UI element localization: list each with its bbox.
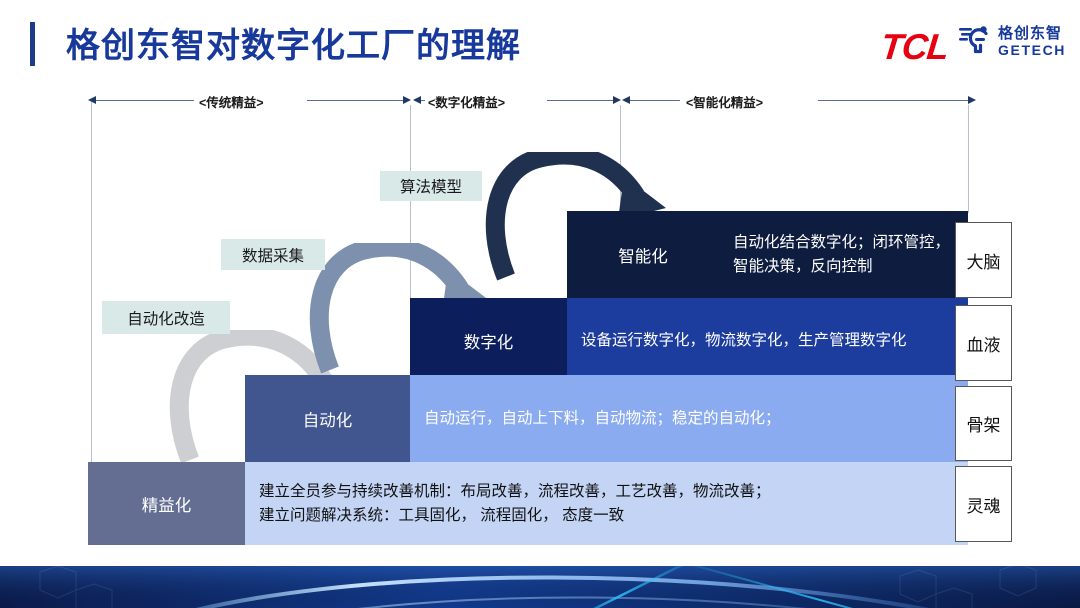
- page-title: 格创东智对数字化工厂的理解: [66, 18, 521, 67]
- level-tag-automation[interactable]: 自动化: [245, 375, 410, 462]
- phase-label-2: <数字化精益>: [428, 92, 505, 111]
- getech-wordmark: 格创东智 GETECH: [998, 26, 1066, 57]
- level-tag-lean[interactable]: 精益化: [88, 462, 245, 545]
- phase-axis-arrow-left-1: [88, 96, 96, 104]
- phase-axis-arrow-left-2: [413, 96, 421, 104]
- level-desc-automation: 自动运行，自动上下料，自动物流；稳定的自动化；: [410, 375, 968, 462]
- footer-decoration-band: [0, 566, 1080, 608]
- getech-mark-icon: [959, 24, 993, 59]
- title-accent-bar: [30, 22, 35, 66]
- getech-name-cn: 格创东智: [998, 26, 1066, 41]
- level-desc-digital: 设备运行数字化，物流数字化，生产管理数字化: [567, 298, 968, 383]
- level-desc-lean-line1: 建立全员参与持续改善机制：布局改善，流程改善，工艺改善，物流改善；: [259, 480, 771, 503]
- footer-arc-graphic: [0, 566, 1080, 608]
- phase-axis-arrow-right-1: [403, 96, 411, 104]
- callout-chip-automation-retrofit[interactable]: 自动化改造: [102, 301, 230, 334]
- organ-box-soul[interactable]: 灵魂: [955, 466, 1012, 542]
- phase-axis-line-1b: [307, 100, 403, 101]
- phase-axis-arrow-right-3: [968, 96, 976, 104]
- level-desc-lean: 建立全员参与持续改善机制：布局改善，流程改善，工艺改善，物流改善； 建立问题解决…: [245, 462, 968, 545]
- phase-axis-arrow-right-2: [613, 96, 621, 104]
- phase-guide-line-1: [91, 102, 92, 465]
- phase-axis-line-1a: [96, 100, 194, 101]
- level-desc-intelligent: 自动化结合数字化；闭环管控，智能决策，反向控制: [719, 211, 968, 298]
- getech-logo: 格创东智 GETECH: [959, 24, 1066, 59]
- organ-box-blood[interactable]: 血液: [955, 305, 1012, 381]
- phase-axis-line-3a: [630, 100, 680, 101]
- phase-axis-line-3b: [818, 100, 968, 101]
- phase-axis-arrow-left-3: [622, 96, 630, 104]
- phase-label-1: <传统精益>: [199, 92, 264, 111]
- organ-box-brain[interactable]: 大脑: [955, 222, 1012, 298]
- callout-chip-data-collection[interactable]: 数据采集: [221, 239, 325, 270]
- level-desc-lean-line2: 建立问题解决系统：工具固化， 流程固化， 态度一致: [259, 504, 624, 527]
- level-tag-digital[interactable]: 数字化: [410, 298, 567, 383]
- level-tag-intelligent[interactable]: 智能化: [567, 211, 719, 298]
- tcl-logo: TCL: [879, 26, 950, 68]
- phase-guide-line-4: [968, 105, 969, 213]
- getech-name-en: GETECH: [998, 43, 1066, 57]
- phase-axis-line-2b: [547, 100, 613, 101]
- callout-chip-algorithm[interactable]: 算法模型: [380, 171, 482, 201]
- phase-label-3: <智能化精益>: [686, 92, 763, 111]
- phase-axis-line-2a: [421, 100, 425, 101]
- slide-canvas: 格创东智对数字化工厂的理解 TCL 格创东智 GETECH <传统精益>: [0, 0, 1080, 608]
- organ-box-skeleton[interactable]: 骨架: [955, 386, 1012, 461]
